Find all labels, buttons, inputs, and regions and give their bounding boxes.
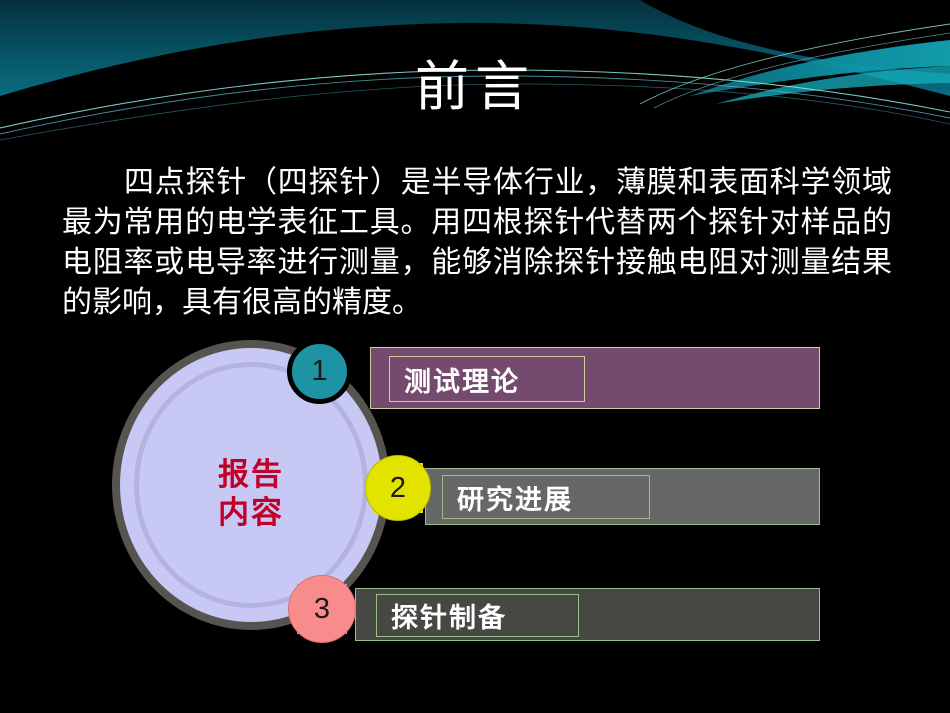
agenda-bar-3[interactable]: 探针制备 bbox=[355, 588, 820, 641]
agenda-bar-3-inner-box: 探针制备 bbox=[376, 594, 579, 637]
agenda-badge-2-number: 2 bbox=[390, 472, 406, 505]
agenda-bar-2-label: 研究进展 bbox=[443, 478, 573, 517]
agenda-center-label-line1: 报告 bbox=[120, 456, 382, 494]
agenda-bar-1[interactable]: 测试理论 bbox=[370, 347, 820, 409]
agenda-diagram: 测试理论 研究进展 探针制备 报告 内容 1 bbox=[0, 325, 950, 665]
slide-body-paragraph: 四点探针（四探针）是半导体行业，薄膜和表面科学领域最为常用的电学表征工具。用四根… bbox=[62, 163, 892, 323]
agenda-bar-2-inner-box: 研究进展 bbox=[442, 475, 650, 519]
agenda-center-label-line2: 内容 bbox=[120, 494, 382, 532]
agenda-bar-2[interactable]: 研究进展 bbox=[425, 468, 820, 525]
agenda-bar-1-label: 测试理论 bbox=[390, 360, 520, 399]
agenda-bar-3-label: 探针制备 bbox=[377, 596, 507, 635]
agenda-center-label: 报告 内容 bbox=[120, 456, 382, 532]
agenda-badge-1-number: 1 bbox=[311, 355, 327, 388]
agenda-badge-3[interactable]: 3 bbox=[288, 575, 356, 643]
agenda-badge-3-number: 3 bbox=[314, 593, 330, 626]
agenda-bar-1-inner-box: 测试理论 bbox=[389, 356, 585, 402]
presentation-slide: 前言 四点探针（四探针）是半导体行业，薄膜和表面科学领域最为常用的电学表征工具。… bbox=[0, 0, 950, 713]
agenda-badge-1[interactable]: 1 bbox=[287, 339, 352, 404]
slide-title: 前言 bbox=[0, 54, 950, 120]
agenda-badge-2[interactable]: 2 bbox=[365, 455, 431, 521]
